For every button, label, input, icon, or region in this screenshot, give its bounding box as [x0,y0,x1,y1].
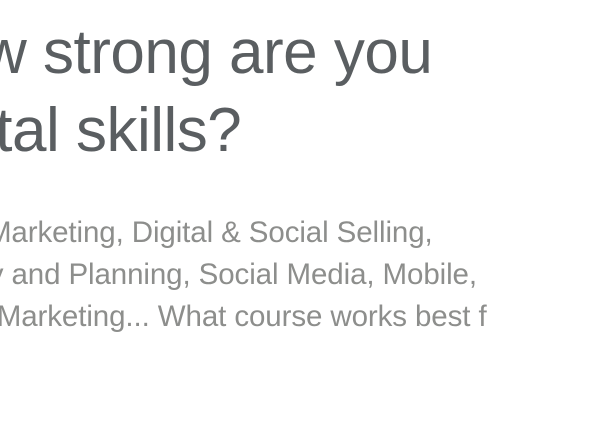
promo-description-line-3: rch Marketing... What course works best … [0,296,600,338]
promo-description-line-2: tegy and Planning, Social Media, Mobile, [0,254,600,296]
promo-description-line-4: ? [0,338,600,380]
page-title-line-1: ow strong are you [0,14,600,92]
promo-description: tal Marketing, Digital & Social Selling,… [0,170,600,380]
page-title: ow strong are you gital skills? [0,14,600,170]
promo-description-line-1: tal Marketing, Digital & Social Selling, [0,212,600,254]
page-title-line-2: gital skills? [0,92,600,170]
promo-text-stack: ow strong are you gital skills? tal Mark… [0,14,600,380]
promo-panel: ow strong are you gital skills? tal Mark… [0,0,600,422]
